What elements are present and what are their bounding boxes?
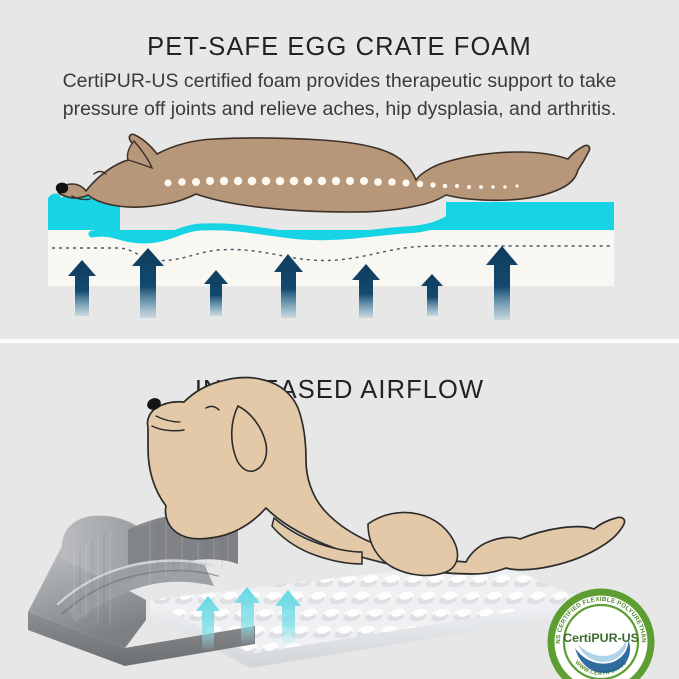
section-increased-airflow: INCREASED AIRFLOW bbox=[0, 343, 679, 679]
page-title-top: PET-SAFE EGG CRATE FOAM bbox=[0, 33, 679, 62]
egg-crate-foam-slab bbox=[150, 560, 585, 668]
airflow-bed-illustration: CONTAINS CERTIFIED FLEXIBLE POLYURETHANE… bbox=[0, 368, 679, 679]
subtitle-line-2: pressure off joints and relieve aches, h… bbox=[0, 98, 679, 121]
dog-sleeping-illustration bbox=[56, 134, 590, 212]
dog-nose bbox=[56, 183, 68, 194]
memory-foam-layer-right bbox=[446, 202, 614, 230]
dog-haunch bbox=[368, 512, 458, 575]
egg-crate-foam-illustration bbox=[0, 126, 679, 326]
section-pet-safe-egg-crate-foam: PET-SAFE EGG CRATE FOAM CertiPUR-US cert… bbox=[0, 0, 679, 339]
subtitle-line-1: CertiPUR-US certified foam provides ther… bbox=[0, 70, 679, 93]
badge-center-text: CertiPUR-US bbox=[563, 631, 639, 645]
